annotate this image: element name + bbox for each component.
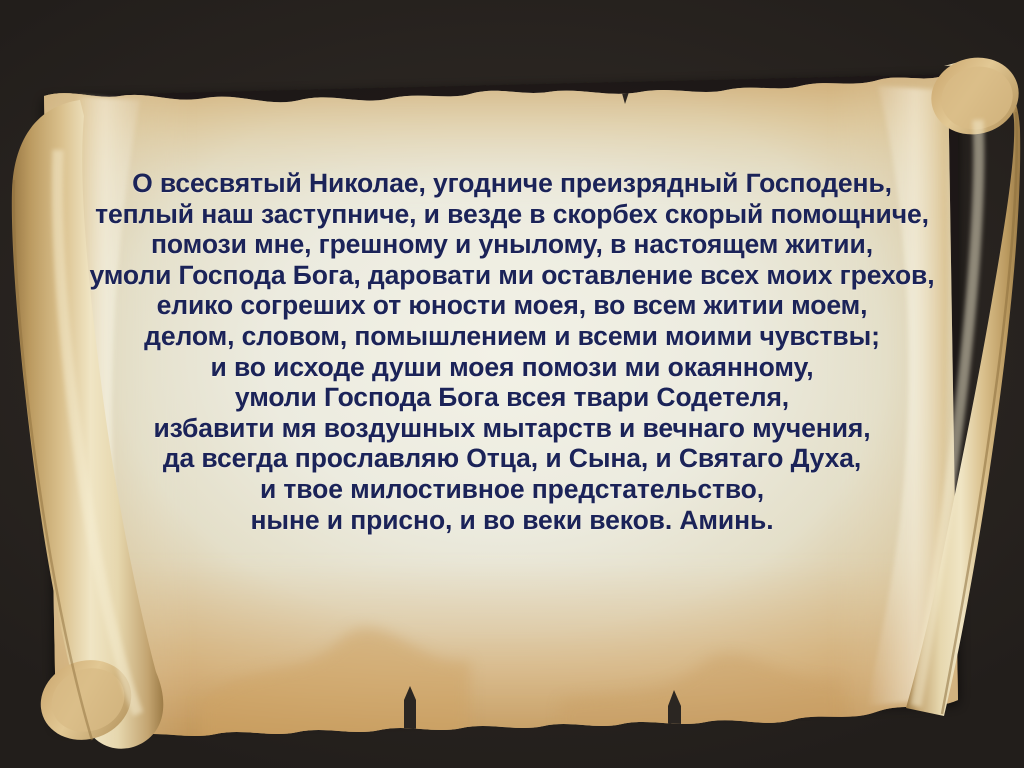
- prayer-line: и во исходе души моея помози ми окаянном…: [0, 352, 1024, 383]
- prayer-line: избавити мя воздушных мытарств и вечнаго…: [0, 413, 1024, 444]
- prayer-line: умоли Господа Бога всея твари Содетеля,: [0, 382, 1024, 413]
- scroll-scene: О всесвятый Николае, угодниче преизрядны…: [0, 0, 1024, 768]
- prayer-line: О всесвятый Николае, угодниче преизрядны…: [0, 168, 1024, 199]
- prayer-text-block: О всесвятый Николае, угодниче преизрядны…: [0, 168, 1024, 535]
- prayer-line: да всегда прославляю Отца, и Сына, и Свя…: [0, 443, 1024, 474]
- prayer-line: ныне и присно, и во веки веков. Аминь.: [0, 505, 1024, 536]
- prayer-line: делом, словом, помышлением и всеми моими…: [0, 321, 1024, 352]
- prayer-line: теплый наш заступниче, и везде в скорбех…: [0, 199, 1024, 230]
- prayer-line: помози мне, грешному и унылому, в настоя…: [0, 229, 1024, 260]
- prayer-line: умоли Господа Бога, даровати ми оставлен…: [0, 260, 1024, 291]
- bottom-notch-right: [668, 690, 681, 768]
- prayer-line: елико согреших от юности моея, во всем ж…: [0, 290, 1024, 321]
- bottom-notch-left: [404, 686, 416, 768]
- prayer-line: и твое милостивное предстательство,: [0, 474, 1024, 505]
